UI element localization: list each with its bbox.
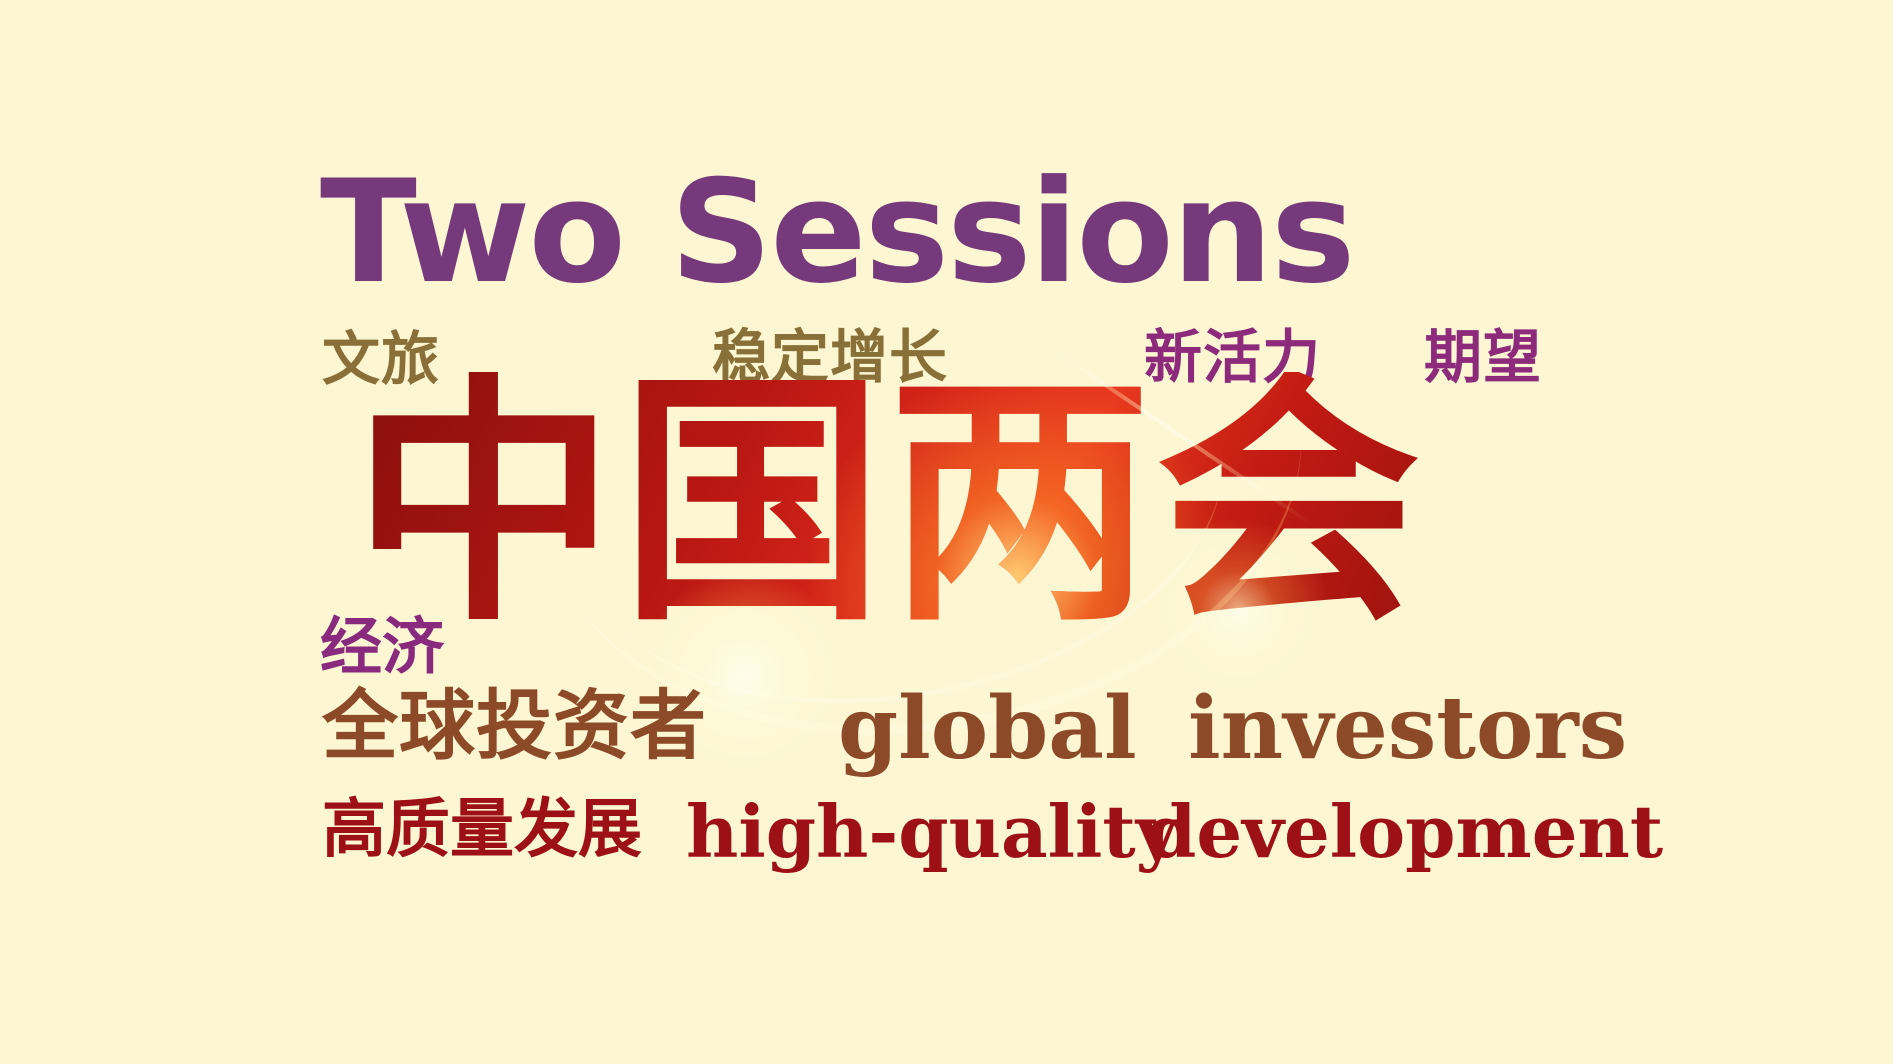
- keyword-jingji: 经济: [320, 616, 444, 678]
- hero-title-zhongguo-lianghui: 中国两会: [352, 372, 1424, 636]
- phrase-english-investors: investors: [1188, 686, 1627, 772]
- phrase-english-global: global: [838, 686, 1137, 772]
- phrase-chinese-global-investors: 全球投资者: [322, 688, 707, 764]
- headline-two-sessions: TwoSessions: [320, 162, 1353, 304]
- keyword-qiwang: 期望: [1424, 328, 1542, 386]
- headline-word-sessions: Sessions: [670, 150, 1353, 315]
- phrase-english-high-quality: high-quality: [686, 796, 1177, 868]
- headline-word-two: Two: [320, 150, 624, 315]
- phrase-english-development: development: [1146, 796, 1663, 868]
- phrase-chinese-high-quality-development: 高质量发展: [322, 798, 642, 862]
- word-cloud-canvas: TwoSessions 文旅 稳定增长 新活力 期望 中国两会 经济 全球投资者…: [0, 0, 1893, 1064]
